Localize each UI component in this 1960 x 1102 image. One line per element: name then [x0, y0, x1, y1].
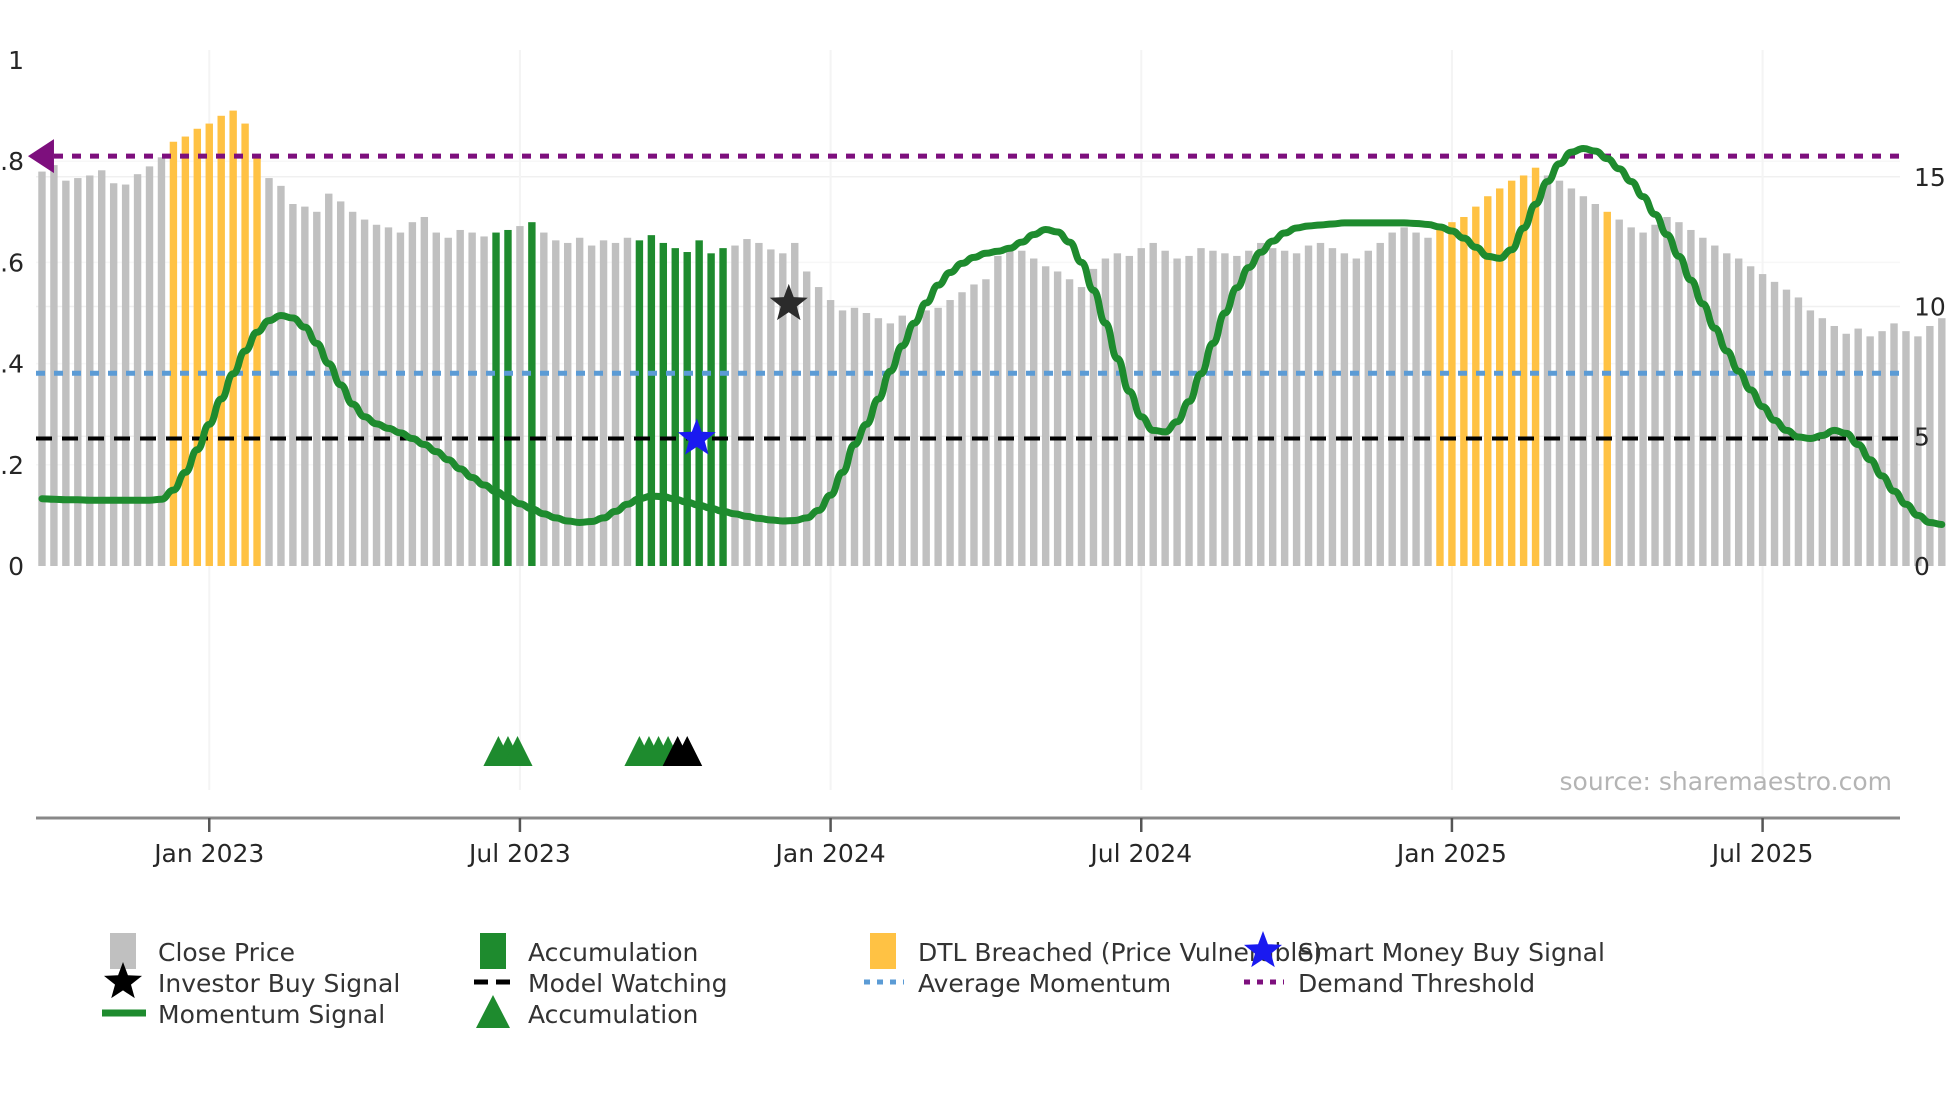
y-axis-left-tick-label: 0.8	[0, 147, 24, 176]
bar-close-price	[1699, 238, 1706, 566]
bar-dtl-breached	[170, 142, 177, 566]
y-axis-left-tick-label: 0.6	[0, 248, 24, 277]
y-axis-left-tick-label: 0.4	[0, 350, 24, 379]
legend-label: Investor Buy Signal	[158, 969, 400, 998]
bar-accumulation	[636, 240, 643, 566]
bar-dtl-breached	[206, 124, 213, 566]
bar-close-price	[1400, 227, 1407, 566]
legend-label: Smart Money Buy Signal	[1298, 938, 1605, 967]
bar-close-price	[994, 256, 1001, 566]
price-bars	[38, 111, 1945, 566]
bar-close-price	[1030, 259, 1037, 566]
bar-close-price	[134, 174, 141, 566]
bar-accumulation	[719, 248, 726, 566]
bar-accumulation	[528, 222, 535, 566]
momentum-chart: 00.20.40.60.81051015Jan 2023Jul 2023Jan …	[0, 0, 1960, 1102]
y-axis-left-tick-label: 0	[8, 552, 24, 581]
bar-dtl-breached	[194, 129, 201, 566]
bar-close-price	[1209, 251, 1216, 566]
legend-item-average-momentum[interactable]: Average Momentum	[864, 969, 1171, 998]
y-axis-right-tick-label: 5	[1914, 422, 1930, 451]
bar-close-price	[1269, 248, 1276, 566]
bar-dtl-breached	[218, 116, 225, 566]
bar-close-price	[385, 227, 392, 566]
bar-close-price	[445, 238, 452, 566]
legend-label: Demand Threshold	[1298, 969, 1535, 998]
bar-close-price	[98, 170, 105, 566]
bar-accumulation	[504, 230, 511, 566]
bar-close-price	[958, 292, 965, 566]
bar-close-price	[970, 284, 977, 566]
bar-close-price	[1377, 243, 1384, 566]
x-axis-tick-label: Jan 2024	[774, 839, 886, 868]
bar-dtl-breached	[182, 137, 189, 566]
bar-close-price	[1126, 256, 1133, 566]
bar-close-price	[1018, 251, 1025, 566]
bar-close-price	[1819, 318, 1826, 566]
bar-close-price	[516, 226, 523, 566]
bar-close-price	[1054, 271, 1061, 566]
y-axis-right-tick-label: 0	[1914, 552, 1930, 581]
y-axis-left-tick-label: 1	[8, 46, 24, 75]
bar-close-price	[38, 172, 45, 566]
bar-close-price	[1592, 204, 1599, 566]
legend-item-demand-threshold[interactable]: Demand Threshold	[1244, 969, 1535, 998]
legend-label: Momentum Signal	[158, 1000, 385, 1029]
bar-close-price	[1150, 243, 1157, 566]
marker-demand-threshold-start	[28, 139, 54, 173]
legend-triangle-icon	[476, 995, 510, 1028]
legend-item-accumulation-bar[interactable]: Accumulation	[480, 933, 698, 969]
bar-close-price	[50, 165, 57, 566]
bar-close-price	[1902, 331, 1909, 566]
bar-close-price	[1305, 246, 1312, 566]
bar-close-price	[301, 207, 308, 566]
bar-close-price	[1329, 248, 1336, 566]
legend-swatch-icon	[480, 933, 506, 969]
bar-close-price	[1723, 253, 1730, 566]
bar-close-price	[1424, 238, 1431, 566]
bar-close-price	[1795, 297, 1802, 566]
bar-close-price	[421, 217, 428, 566]
legend-label: Accumulation	[528, 1000, 698, 1029]
bar-close-price	[1090, 269, 1097, 566]
bar-close-price	[612, 243, 619, 566]
bar-close-price	[1197, 248, 1204, 566]
y-axis-left-tick-label: 0.2	[0, 451, 24, 480]
bar-close-price	[1759, 274, 1766, 566]
bar-dtl-breached	[253, 156, 260, 566]
bar-close-price	[624, 238, 631, 566]
bar-close-price	[1616, 220, 1623, 566]
bar-dtl-breached	[1532, 168, 1539, 566]
bar-accumulation	[660, 243, 667, 566]
bar-close-price	[1675, 222, 1682, 566]
bar-close-price	[1245, 251, 1252, 566]
bar-dtl-breached	[1436, 230, 1443, 566]
legend-item-close-price[interactable]: Close Price	[110, 933, 295, 969]
bar-close-price	[815, 287, 822, 566]
bar-close-price	[1890, 323, 1897, 566]
bar-close-price	[1639, 233, 1646, 566]
x-axis-tick-label: Jan 2023	[152, 839, 264, 868]
bar-close-price	[1293, 253, 1300, 566]
bar-close-price	[1066, 279, 1073, 566]
bar-close-price	[1042, 266, 1049, 566]
bar-close-price	[1281, 251, 1288, 566]
bar-close-price	[875, 318, 882, 566]
bar-dtl-breached	[1472, 207, 1479, 566]
x-axis-tick-label: Jul 2024	[1088, 839, 1192, 868]
marker-investor-buy-signal	[770, 284, 808, 320]
bar-close-price	[349, 212, 356, 566]
bar-accumulation	[684, 252, 691, 566]
bar-close-price	[946, 300, 953, 566]
bar-close-price	[1627, 227, 1634, 566]
bar-close-price	[827, 300, 834, 566]
bar-close-price	[1341, 253, 1348, 566]
bar-accumulation	[648, 235, 655, 566]
legend-item-smart-money-buy-signal[interactable]: Smart Money Buy Signal	[1244, 931, 1605, 967]
legend-group: Close PriceAccumulationDTL Breached (Pri…	[102, 931, 1605, 1029]
bar-close-price	[1735, 259, 1742, 566]
legend-item-accumulation-triangle[interactable]: Accumulation	[476, 995, 698, 1029]
bar-accumulation	[707, 253, 714, 566]
bar-close-price	[468, 233, 475, 566]
bar-close-price	[1114, 253, 1121, 566]
x-axis-tick-label: Jul 2025	[1710, 839, 1814, 868]
legend-swatch-icon	[870, 933, 896, 969]
bar-close-price	[1353, 259, 1360, 566]
bar-close-price	[62, 181, 69, 566]
bar-close-price	[1412, 233, 1419, 566]
bar-close-price	[1878, 331, 1885, 566]
bar-close-price	[397, 233, 404, 566]
bar-close-price	[1006, 248, 1013, 566]
bar-dtl-breached	[1604, 212, 1611, 566]
bar-close-price	[1568, 188, 1575, 566]
bar-accumulation	[695, 240, 702, 566]
bar-close-price	[1317, 243, 1324, 566]
legend-item-investor-buy-signal[interactable]: Investor Buy Signal	[104, 962, 400, 998]
bar-close-price	[1843, 334, 1850, 566]
bar-close-price	[1257, 243, 1264, 566]
bar-close-price	[911, 321, 918, 566]
legend-label: Accumulation	[528, 938, 698, 967]
bar-dtl-breached	[1448, 222, 1455, 566]
bar-close-price	[803, 271, 810, 566]
bar-close-price	[1388, 233, 1395, 566]
bar-dtl-breached	[1496, 188, 1503, 566]
source-attribution: source: sharemaestro.com	[1560, 767, 1893, 796]
legend-label: Model Watching	[528, 969, 728, 998]
bar-close-price	[1365, 251, 1372, 566]
bar-close-price	[1938, 318, 1945, 566]
bar-accumulation	[672, 248, 679, 566]
bar-close-price	[1078, 287, 1085, 566]
bar-close-price	[731, 246, 738, 566]
bar-close-price	[158, 157, 165, 566]
legend-label: Average Momentum	[918, 969, 1171, 998]
bar-close-price	[1102, 259, 1109, 566]
bar-close-price	[1831, 326, 1838, 566]
bar-close-price	[480, 236, 487, 566]
bar-dtl-breached	[1460, 217, 1467, 566]
legend-label: Close Price	[158, 938, 295, 967]
bar-close-price	[277, 186, 284, 566]
bar-close-price	[1580, 196, 1587, 566]
bar-close-price	[1161, 251, 1168, 566]
chart-canvas: 00.20.40.60.81051015Jan 2023Jul 2023Jan …	[0, 0, 1960, 1102]
bar-close-price	[146, 166, 153, 566]
legend-star-icon	[104, 962, 142, 998]
y-axis-right-tick-label: 15	[1914, 163, 1946, 192]
legend-item-momentum-signal[interactable]: Momentum Signal	[102, 1000, 385, 1029]
bar-close-price	[982, 279, 989, 566]
bar-close-price	[1711, 246, 1718, 566]
bar-close-price	[325, 194, 332, 566]
bar-close-price	[433, 233, 440, 566]
bar-close-price	[373, 225, 380, 566]
y-axis-right-tick-label: 10	[1914, 293, 1946, 322]
bar-close-price	[1233, 256, 1240, 566]
bar-close-price	[361, 220, 368, 566]
bar-close-price	[1747, 266, 1754, 566]
bar-accumulation	[492, 233, 499, 566]
bar-close-price	[409, 222, 416, 566]
bar-close-price	[289, 204, 296, 566]
bar-close-price	[576, 238, 583, 566]
bar-close-price	[1651, 225, 1658, 566]
x-axis-tick-label: Jul 2023	[467, 839, 571, 868]
bar-close-price	[456, 230, 463, 566]
bar-dtl-breached	[229, 111, 236, 566]
bar-close-price	[313, 212, 320, 566]
legend-item-model-watching[interactable]: Model Watching	[474, 969, 728, 998]
x-axis-tick-label: Jan 2025	[1395, 839, 1507, 868]
bar-close-price	[1663, 217, 1670, 566]
